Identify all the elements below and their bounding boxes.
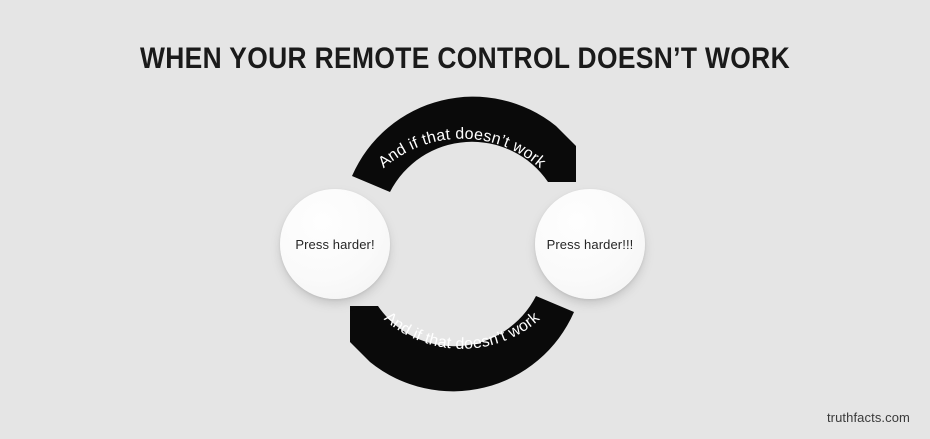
arc-bottom-label: And if that doesn’t work (381, 309, 544, 353)
cycle-node-right: Press harder!!! (535, 189, 645, 299)
arc-top-label: And if that doesn’t work (375, 126, 549, 172)
arc-bottom-label-text: And if that doesn’t work (381, 309, 544, 353)
source-watermark: truthfacts.com (827, 410, 910, 425)
arc-bottom-band (350, 296, 574, 391)
cycle-diagram: And if that doesn’t work And if that doe… (0, 0, 930, 439)
cycle-node-left-label: Press harder! (295, 237, 374, 252)
arc-top-band (352, 97, 576, 192)
cycle-node-right-label: Press harder!!! (547, 237, 634, 252)
cycle-arrows: And if that doesn’t work And if that doe… (0, 0, 930, 439)
cycle-node-left: Press harder! (280, 189, 390, 299)
comic-canvas: WHEN YOUR REMOTE CONTROL DOESN’T WORK An… (0, 0, 930, 439)
arc-top-label-text: And if that doesn’t work (375, 126, 549, 172)
arc-bottom: And if that doesn’t work (350, 296, 574, 391)
arc-top: And if that doesn’t work (352, 97, 576, 192)
